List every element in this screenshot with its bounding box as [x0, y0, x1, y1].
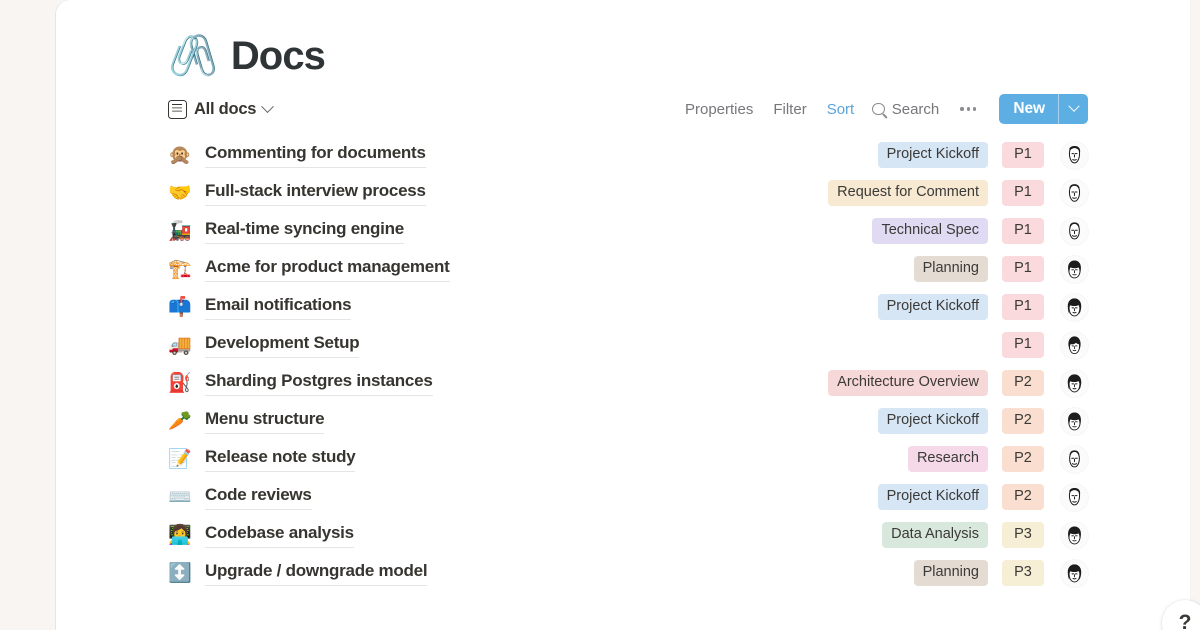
document-tag[interactable]: Project Kickoff — [878, 142, 988, 168]
fuel-pump-icon: ⛽ — [168, 374, 194, 393]
document-title[interactable]: Code reviews — [205, 484, 312, 509]
priority-badge[interactable]: P3 — [1002, 522, 1044, 548]
document-row[interactable]: ⌨️Code reviewsProject KickoffP2 — [168, 478, 1088, 516]
chevron-down-icon — [261, 100, 274, 113]
document-row[interactable]: 🚚Development SetupP1 — [168, 326, 1088, 364]
up-down-arrow-icon: ↕️ — [168, 564, 194, 583]
avatar[interactable] — [1061, 256, 1088, 283]
paperclip-icon: 🖇️ — [168, 36, 218, 76]
avatar[interactable] — [1061, 332, 1088, 359]
document-tag[interactable]: Planning — [914, 256, 988, 282]
document-title[interactable]: Development Setup — [205, 332, 359, 357]
document-title[interactable]: Acme for product management — [205, 256, 450, 281]
carrot-icon: 🥕 — [168, 412, 194, 431]
building-construction-icon: 🏗️ — [168, 260, 194, 279]
priority-badge[interactable]: P1 — [1002, 332, 1044, 358]
filter-button[interactable]: Filter — [763, 96, 816, 123]
document-row[interactable]: ⛽Sharding Postgres instancesArchitecture… — [168, 364, 1088, 402]
document-tag[interactable]: Architecture Overview — [828, 370, 988, 396]
document-tag[interactable]: Project Kickoff — [878, 484, 988, 510]
priority-badge[interactable]: P1 — [1002, 256, 1044, 282]
page-title: Docs — [231, 35, 325, 77]
app-root: 🖇️ Docs All docs Properties Filter Sort … — [0, 0, 1200, 630]
dot — [973, 107, 976, 110]
document-tag[interactable]: Technical Spec — [872, 218, 988, 244]
woman-technologist-icon: 👩‍💻 — [168, 526, 194, 545]
properties-button[interactable]: Properties — [675, 96, 763, 123]
document-title[interactable]: Sharding Postgres instances — [205, 370, 433, 395]
avatar[interactable] — [1061, 370, 1088, 397]
document-row[interactable]: 🥕Menu structureProject KickoffP2 — [168, 402, 1088, 440]
document-title[interactable]: Commenting for documents — [205, 142, 426, 167]
memo-icon: 📝 — [168, 450, 194, 469]
document-title[interactable]: Release note study — [205, 446, 355, 471]
document-title[interactable]: Codebase analysis — [205, 522, 354, 547]
document-row[interactable]: 🚂Real-time syncing engineTechnical SpecP… — [168, 212, 1088, 250]
avatar[interactable] — [1061, 446, 1088, 473]
document-row[interactable]: 🙊Commenting for documentsProject Kickoff… — [168, 136, 1088, 174]
document-title[interactable]: Email notifications — [205, 294, 351, 319]
search-label: Search — [892, 101, 940, 118]
document-row[interactable]: 🤝Full-stack interview processRequest for… — [168, 174, 1088, 212]
new-button[interactable]: New — [999, 94, 1088, 124]
document-title[interactable]: Menu structure — [205, 408, 324, 433]
document-tag[interactable]: Request for Comment — [828, 180, 988, 206]
mailbox-icon: 📫 — [168, 298, 194, 317]
document-row[interactable]: 🏗️Acme for product managementPlanningP1 — [168, 250, 1088, 288]
document-tag[interactable]: Project Kickoff — [878, 294, 988, 320]
toolbar: All docs Properties Filter Sort Search — [168, 90, 1088, 136]
document-row[interactable]: ↕️Upgrade / downgrade modelPlanningP3 — [168, 554, 1088, 592]
priority-badge[interactable]: P2 — [1002, 370, 1044, 396]
avatar[interactable] — [1061, 142, 1088, 169]
dot — [967, 107, 970, 110]
priority-badge[interactable]: P1 — [1002, 294, 1044, 320]
document-row[interactable]: 📝Release note studyResearchP2 — [168, 440, 1088, 478]
content-panel: 🖇️ Docs All docs Properties Filter Sort … — [56, 0, 1190, 630]
priority-badge[interactable]: P1 — [1002, 142, 1044, 168]
document-tag[interactable]: Data Analysis — [882, 522, 988, 548]
avatar[interactable] — [1061, 218, 1088, 245]
priority-badge[interactable]: P2 — [1002, 446, 1044, 472]
search-button[interactable]: Search — [864, 96, 949, 123]
delivery-truck-icon: 🚚 — [168, 336, 194, 355]
new-button-caret[interactable] — [1058, 94, 1088, 124]
document-row[interactable]: 👩‍💻Codebase analysisData AnalysisP3 — [168, 516, 1088, 554]
list-view-icon — [168, 100, 187, 119]
document-list: 🙊Commenting for documentsProject Kickoff… — [168, 136, 1088, 592]
priority-badge[interactable]: P2 — [1002, 484, 1044, 510]
document-tag[interactable]: Planning — [914, 560, 988, 586]
page-inner: 🖇️ Docs All docs Properties Filter Sort … — [168, 0, 1088, 592]
dot — [960, 107, 963, 110]
avatar[interactable] — [1061, 560, 1088, 587]
document-tag[interactable]: Research — [908, 446, 988, 472]
speak-no-evil-monkey-icon: 🙊 — [168, 146, 194, 165]
priority-badge[interactable]: P3 — [1002, 560, 1044, 586]
priority-badge[interactable]: P2 — [1002, 408, 1044, 434]
avatar[interactable] — [1061, 408, 1088, 435]
document-tag[interactable]: Project Kickoff — [878, 408, 988, 434]
new-button-label: New — [999, 94, 1058, 124]
document-title[interactable]: Real-time syncing engine — [205, 218, 404, 243]
avatar[interactable] — [1061, 484, 1088, 511]
avatar[interactable] — [1061, 180, 1088, 207]
page-header: 🖇️ Docs — [168, 0, 1088, 68]
priority-badge[interactable]: P1 — [1002, 180, 1044, 206]
more-options-icon[interactable] — [949, 99, 987, 118]
search-icon — [872, 103, 885, 116]
handshake-icon: 🤝 — [168, 184, 194, 203]
avatar[interactable] — [1061, 294, 1088, 321]
chevron-down-icon — [1068, 101, 1079, 112]
document-row[interactable]: 📫Email notificationsProject KickoffP1 — [168, 288, 1088, 326]
locomotive-icon: 🚂 — [168, 222, 194, 241]
view-switcher[interactable]: All docs — [168, 100, 272, 119]
sort-button[interactable]: Sort — [817, 96, 865, 123]
view-switcher-label: All docs — [194, 100, 256, 119]
priority-badge[interactable]: P1 — [1002, 218, 1044, 244]
toolbar-actions: Properties Filter Sort Search New — [675, 94, 1088, 124]
document-title[interactable]: Full-stack interview process — [205, 180, 426, 205]
keyboard-icon: ⌨️ — [168, 488, 194, 507]
avatar[interactable] — [1061, 522, 1088, 549]
document-title[interactable]: Upgrade / downgrade model — [205, 560, 427, 585]
